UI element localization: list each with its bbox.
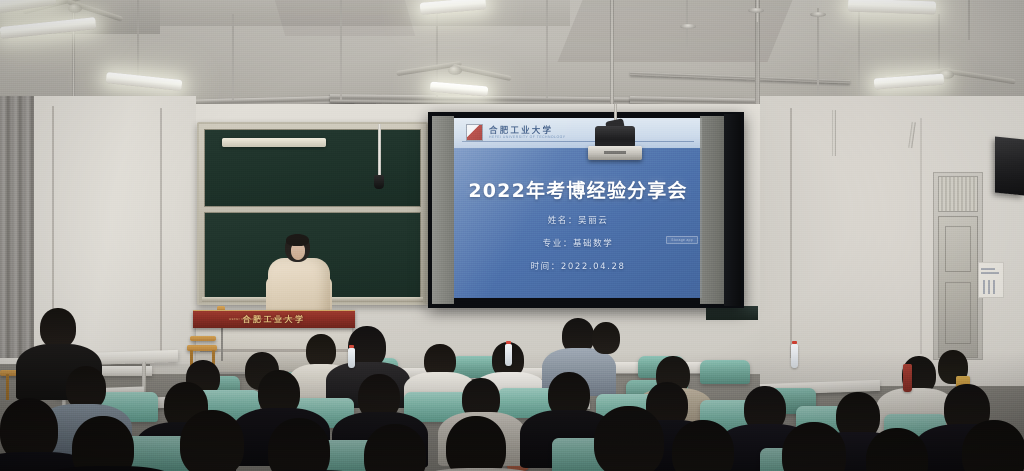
hanger-rod-3 bbox=[232, 14, 234, 100]
water-bottle-3 bbox=[791, 344, 798, 368]
door-panel-lower bbox=[945, 282, 971, 344]
wall-sign-line-2 bbox=[981, 272, 999, 274]
projection-screen-frame-right bbox=[700, 116, 726, 304]
wall-sign-line-1 bbox=[981, 268, 995, 270]
water-bottle-cap-1 bbox=[349, 345, 354, 348]
wall-seam-a bbox=[160, 108, 162, 358]
water-bottle-2 bbox=[505, 344, 512, 366]
audience-head-f3 bbox=[180, 410, 244, 471]
hanging-microphone-rod bbox=[378, 124, 381, 176]
hanger-rod-11 bbox=[817, 8, 819, 104]
audience-head-f7 bbox=[594, 406, 664, 471]
rod-cap-3 bbox=[810, 12, 826, 17]
slide-field-major: 专业：基础数学 bbox=[454, 237, 702, 249]
slide-field-name: 姓名：吴丽云 bbox=[454, 214, 702, 226]
rod-cap-1 bbox=[680, 24, 696, 29]
wall-sign-line-5 bbox=[993, 280, 995, 294]
wall-sign-line-3 bbox=[983, 280, 985, 294]
audience-head-f4 bbox=[268, 418, 330, 471]
lecture-hall-photo: 合肥工业大学 HEFEI UNIVERSITY OF TECHNOLOGY 20… bbox=[0, 0, 1024, 471]
slide-title: 2022年考博经验分享会 bbox=[454, 176, 702, 203]
audience-head-f2 bbox=[72, 416, 134, 471]
slide-detail-lines: 姓名：吴丽云 专业：基础数学 时间：2022.04.28 bbox=[454, 214, 702, 283]
ceiling-soffit-shadow-2 bbox=[275, 0, 415, 36]
wall-seam-b bbox=[790, 108, 792, 358]
projection-screen-frame-left bbox=[432, 116, 454, 304]
window-curtain-left bbox=[0, 96, 34, 358]
wall-conduit-right bbox=[832, 110, 836, 156]
presenter-hair bbox=[286, 234, 309, 246]
wooden-stool-leg bbox=[6, 374, 9, 400]
wall-right bbox=[760, 96, 1024, 386]
seat-back-5[interactable] bbox=[700, 360, 750, 384]
projector-label bbox=[604, 151, 626, 154]
door-transom-window bbox=[938, 176, 978, 212]
slide-watermark-badge: Storage app bbox=[666, 236, 698, 244]
blackboard-lamp bbox=[222, 138, 326, 147]
projection-screen-bezel-right bbox=[724, 114, 741, 306]
wall-sign-line-4 bbox=[988, 280, 990, 294]
hanger-rod-13 bbox=[938, 14, 940, 106]
hanger-rod-12 bbox=[858, 0, 860, 110]
hanger-rod-10 bbox=[756, 22, 758, 106]
audience-head-b2 bbox=[306, 334, 336, 368]
university-logo-icon bbox=[466, 124, 483, 141]
podium-banner: HEFEI UNIVERSITY OF TECHNOLOGY 合肥工业大学 bbox=[193, 310, 355, 328]
hanger-rod-7 bbox=[610, 0, 614, 104]
water-bottle-cap-3 bbox=[792, 341, 797, 344]
thermos-red bbox=[903, 364, 912, 392]
hanger-rod-14 bbox=[968, 0, 970, 40]
hanging-microphone-head bbox=[374, 175, 384, 189]
slide-header-rule bbox=[462, 141, 694, 142]
audience-head-f6 bbox=[446, 416, 506, 471]
wall-speaker bbox=[995, 136, 1024, 195]
wall-seam-c bbox=[920, 118, 922, 354]
university-logo-name-en: HEFEI UNIVERSITY OF TECHNOLOGY bbox=[489, 135, 565, 139]
projector-bracket bbox=[595, 126, 635, 148]
hanger-rod-4 bbox=[340, 0, 342, 100]
rod-cap-2 bbox=[748, 8, 764, 13]
audience-head-b7 bbox=[592, 322, 620, 354]
water-bottle-cap-2 bbox=[506, 341, 511, 344]
wooden-chair-back[interactable] bbox=[190, 336, 216, 341]
door-panel-upper bbox=[945, 226, 971, 272]
slide-field-date: 时间：2022.04.28 bbox=[454, 260, 702, 272]
corner-monitor bbox=[706, 306, 758, 320]
hanger-rod-6 bbox=[546, 0, 548, 98]
audience-head-f11 bbox=[962, 420, 1024, 471]
presentation-slide: 合肥工业大学 HEFEI UNIVERSITY OF TECHNOLOGY 20… bbox=[454, 118, 702, 298]
audience-head-f8 bbox=[672, 420, 734, 471]
water-bottle-1 bbox=[348, 348, 355, 368]
audience-head-b1 bbox=[40, 308, 76, 348]
podium-banner-text: 合肥工业大学 bbox=[193, 314, 355, 325]
hanger-rod-1 bbox=[72, 0, 75, 100]
